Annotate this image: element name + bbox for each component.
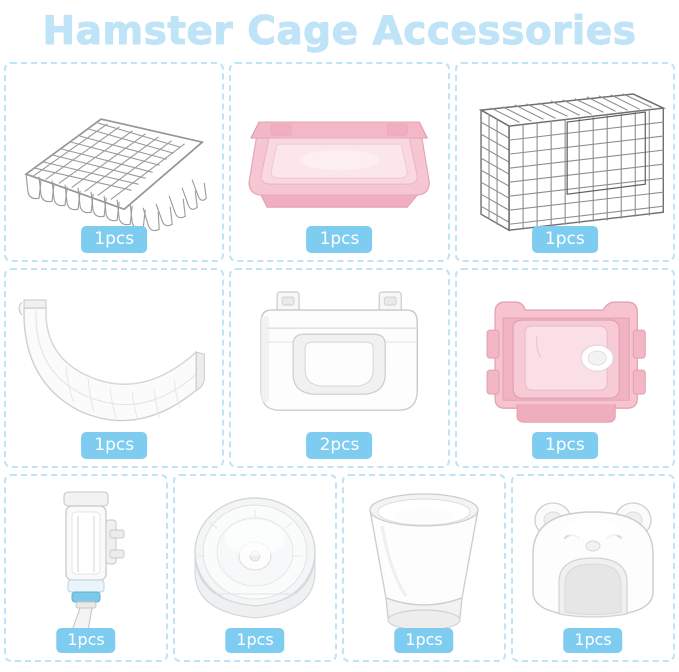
- quantity-badge: 2pcs: [307, 432, 373, 459]
- quantity-badge: 1pcs: [225, 628, 284, 653]
- product-row: 1pcs 2pcs: [0, 268, 679, 468]
- product-cell-wire-cage-top-frame[interactable]: 1pcs: [455, 62, 675, 262]
- quantity-badge: 1pcs: [81, 432, 147, 459]
- page-title: Hamster Cage Accessories: [0, 0, 679, 60]
- quantity-badge: 1pcs: [307, 226, 373, 253]
- product-cell-bear-shaped-ceramic-hideout[interactable]: 1pcs: [511, 474, 675, 662]
- quantity-badge: 1pcs: [56, 628, 115, 653]
- product-row: 1pcs 1pcs: [0, 474, 679, 662]
- product-cell-pink-bear-face-cage-door[interactable]: 1pcs: [455, 268, 675, 468]
- product-row: 1pcs 1pcs: [0, 62, 679, 262]
- quantity-badge: 1pcs: [532, 226, 598, 253]
- quantity-badge: 1pcs: [532, 432, 598, 459]
- product-cell-white-curved-tunnel-slide[interactable]: 1pcs: [4, 268, 224, 468]
- product-cell-wire-cage-floor-grid[interactable]: 1pcs: [4, 62, 224, 262]
- product-grid: 1pcs 1pcs: [0, 62, 679, 662]
- product-cell-white-ceramic-food-bowl[interactable]: 1pcs: [342, 474, 506, 662]
- quantity-badge: 1pcs: [563, 628, 622, 653]
- product-cell-pink-plastic-base-tray[interactable]: 1pcs: [229, 62, 449, 262]
- quantity-badge: 1pcs: [81, 226, 147, 253]
- product-cell-white-plastic-ladder-platform[interactable]: 2pcs: [229, 268, 449, 468]
- product-cell-clear-exercise-wheel[interactable]: 1pcs: [173, 474, 337, 662]
- product-cell-water-bottle-dispenser[interactable]: 1pcs: [4, 474, 168, 662]
- quantity-badge: 1pcs: [394, 628, 453, 653]
